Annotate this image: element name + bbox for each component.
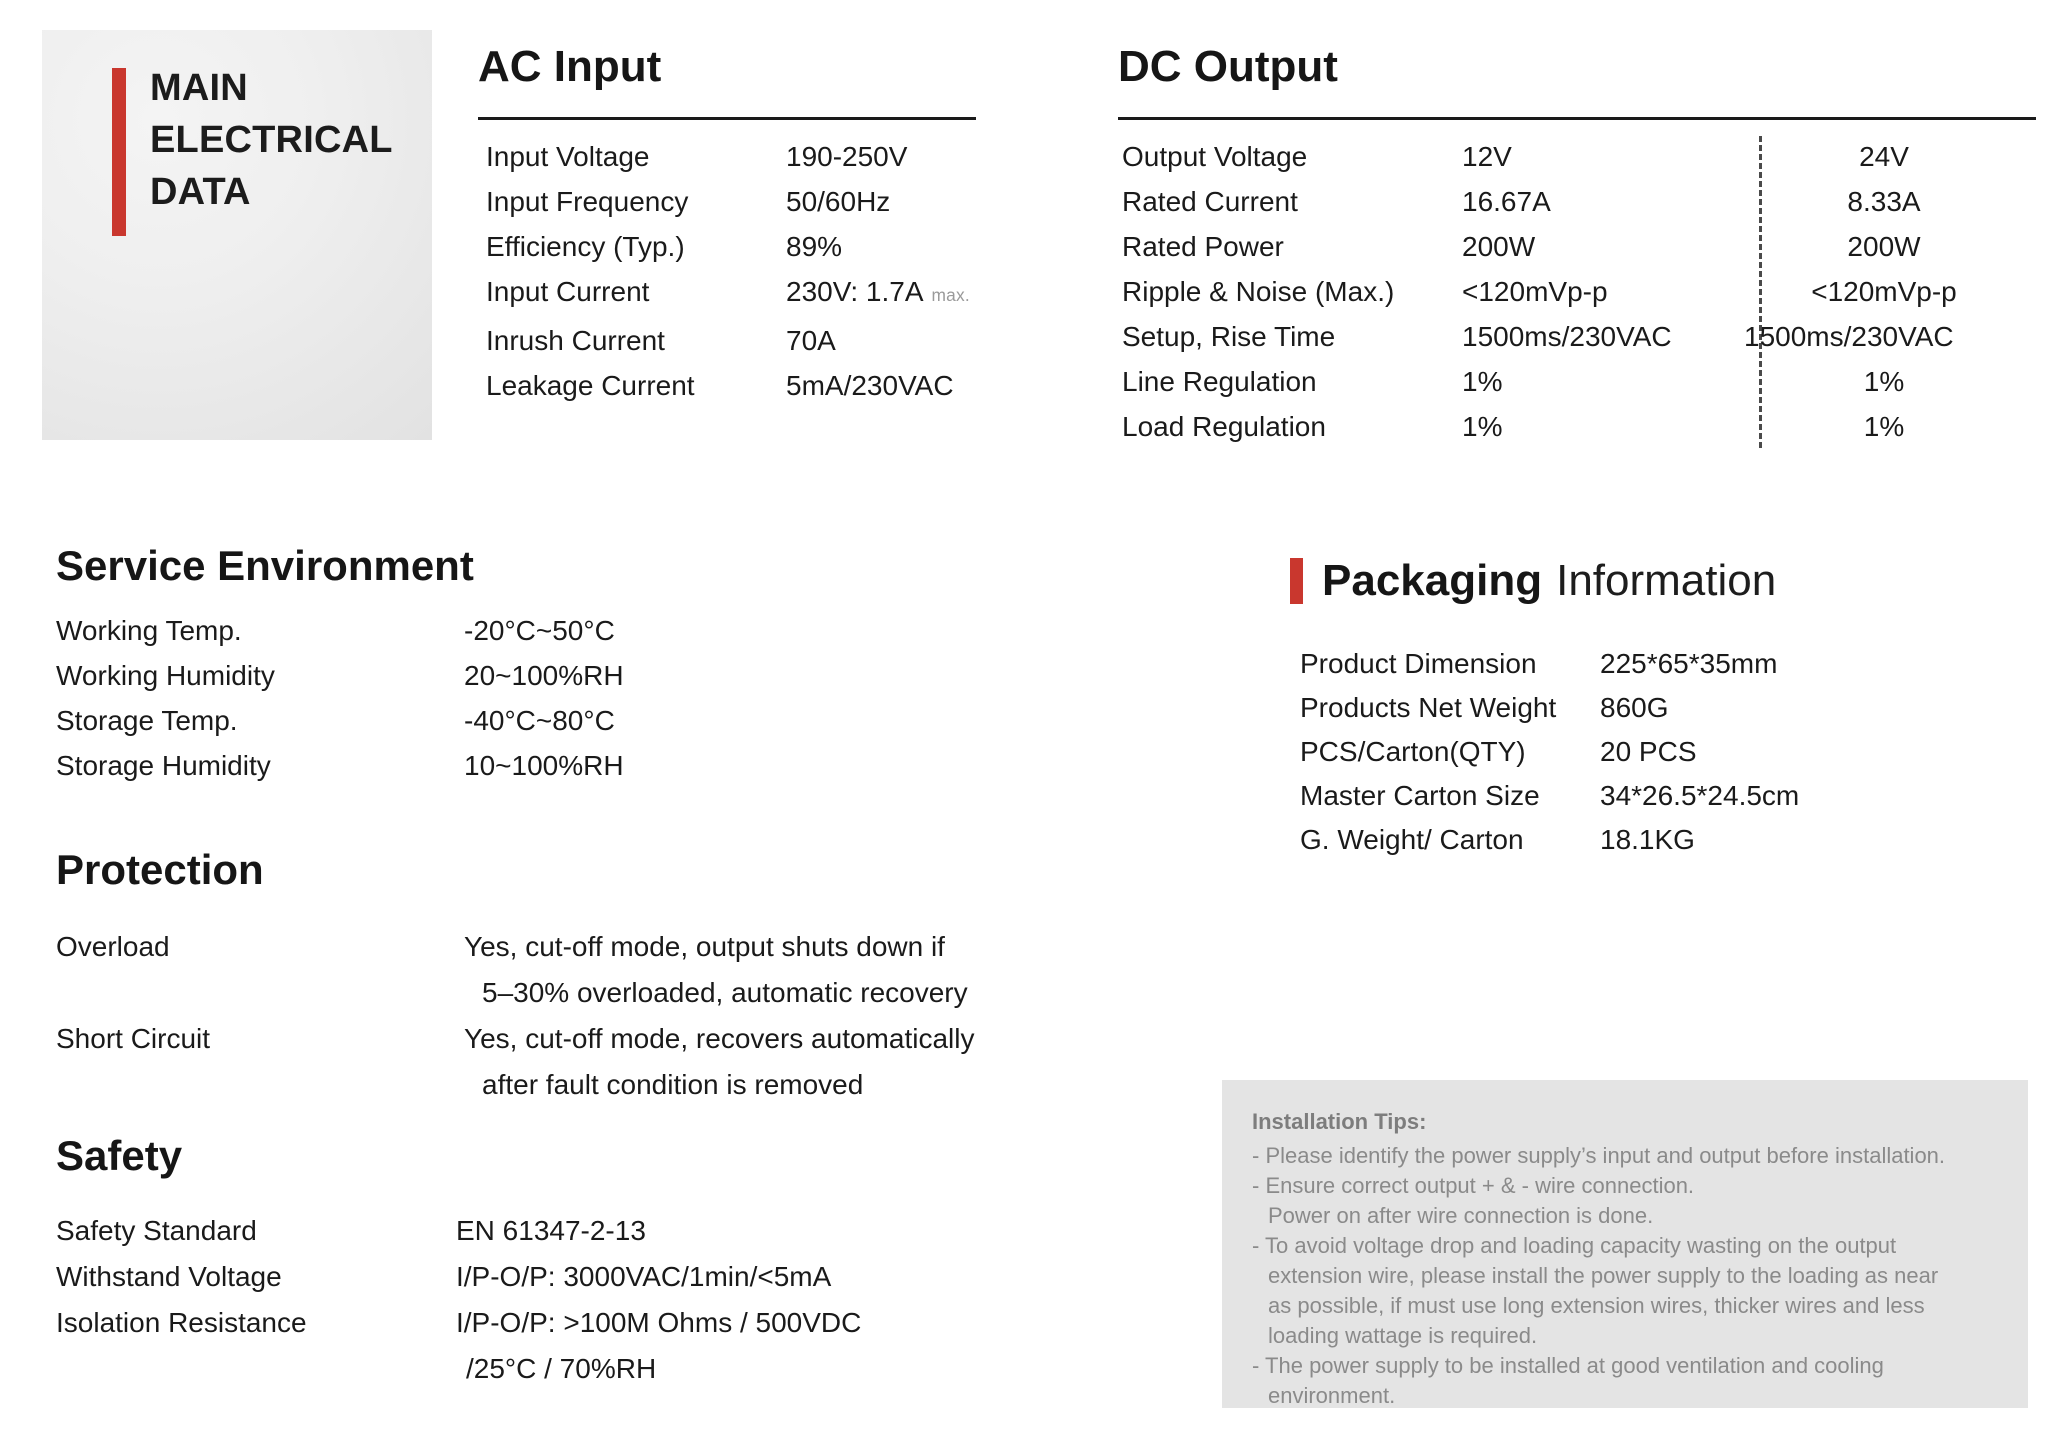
spec-value-12v: 16.67A [1462, 179, 1744, 224]
spec-value-24v: 1500ms/230VAC [1744, 314, 2024, 359]
dc-output-divider [1118, 117, 2036, 120]
spec-label: Working Humidity [56, 653, 464, 698]
main-electrical-data-panel: MAIN ELECTRICAL DATA [42, 30, 432, 440]
spec-row: Line Regulation 1% 1% [1122, 359, 2024, 404]
spec-value: I/P-O/P: 3000VAC/1min/<5mA [456, 1254, 831, 1300]
spec-label: Input Voltage [486, 134, 786, 179]
spec-value: 18.1KG [1600, 818, 1695, 862]
red-accent-bar [1290, 558, 1303, 604]
installation-tip-line: Power on after wire connection is done. [1252, 1201, 1998, 1231]
spec-value-line: EN 61347-2-13 [456, 1208, 646, 1254]
spec-value-12v: 1500ms/230VAC [1462, 314, 1744, 359]
spec-value-24v: 1% [1744, 404, 2024, 449]
installation-tip-line: - Ensure correct output + & - wire conne… [1252, 1171, 1998, 1201]
spec-label: Overload [56, 924, 464, 970]
spec-row: Input Current 230V: 1.7A max. [486, 269, 970, 318]
spec-row: Working Temp. -20°C~50°C [56, 608, 724, 653]
packaging-heading-strong: Packaging [1322, 556, 1542, 606]
spec-value-12v: 200W [1462, 224, 1744, 269]
spec-label: Withstand Voltage [56, 1254, 456, 1300]
spec-label: Master Carton Size [1300, 774, 1600, 818]
spec-label: Working Temp. [56, 608, 464, 653]
spec-value: Yes, cut-off mode, output shuts down if … [464, 924, 968, 1016]
spec-value: EN 61347-2-13 [456, 1208, 646, 1254]
spec-value-12v: 1% [1462, 404, 1744, 449]
installation-tip-line: - To avoid voltage drop and loading capa… [1252, 1231, 1998, 1261]
installation-tip-line: - The power supply to be installed at go… [1252, 1351, 1998, 1381]
installation-tip-line: as possible, if must use long extension … [1252, 1291, 1998, 1321]
spec-value-12v: <120mVp-p [1462, 269, 1744, 314]
ac-input-heading: AC Input [478, 42, 661, 92]
spec-value-line: /25°C / 70%RH [456, 1346, 861, 1392]
safety-heading: Safety [56, 1132, 182, 1180]
spec-label: Input Frequency [486, 179, 786, 224]
spec-value-12v: 12V [1462, 134, 1744, 179]
spec-label: Setup, Rise Time [1122, 314, 1462, 359]
spec-row: Product Dimension 225*65*35mm [1300, 642, 1799, 686]
spec-value: Yes, cut-off mode, recovers automaticall… [464, 1016, 974, 1108]
spec-value: 70A [786, 318, 836, 363]
ac-input-spec-list: Input Voltage 190-250V Input Frequency 5… [486, 134, 970, 408]
packaging-spec-list: Product Dimension 225*65*35mm Products N… [1300, 642, 1799, 862]
spec-value: 5mA/230VAC [786, 363, 954, 408]
spec-row: Rated Power 200W 200W [1122, 224, 2024, 269]
red-accent-bar [112, 68, 126, 236]
spec-label: Line Regulation [1122, 359, 1462, 404]
spec-row: Rated Current 16.67A 8.33A [1122, 179, 2024, 224]
spec-label: Rated Power [1122, 224, 1462, 269]
spec-value-note: max. [932, 273, 970, 318]
spec-value: -40°C~80°C [464, 698, 724, 743]
spec-row: Efficiency (Typ.) 89% [486, 224, 970, 269]
spec-value-24v: <120mVp-p [1744, 269, 2024, 314]
main-title-line-2: ELECTRICAL [150, 114, 420, 166]
spec-label: Input Current [486, 269, 786, 314]
spec-row: Input Frequency 50/60Hz [486, 179, 970, 224]
spec-value: 20~100%RH [464, 653, 724, 698]
main-title-line-3: DATA [150, 166, 420, 218]
spec-label: Inrush Current [486, 318, 786, 363]
installation-tip-line: - Please identify the power supply’s inp… [1252, 1141, 1998, 1171]
spec-label: Storage Humidity [56, 743, 464, 788]
spec-row: Working Humidity 20~100%RH [56, 653, 724, 698]
spec-label: Load Regulation [1122, 404, 1462, 449]
spec-row: Storage Humidity 10~100%RH [56, 743, 724, 788]
spec-label: Ripple & Noise (Max.) [1122, 269, 1462, 314]
spec-row: Output Voltage 12V 24V [1122, 134, 2024, 179]
spec-value-line: I/P-O/P: >100M Ohms / 500VDC [456, 1300, 861, 1346]
spec-row: Short Circuit Yes, cut-off mode, recover… [56, 1016, 974, 1108]
spec-value: 230V: 1.7A [786, 269, 924, 314]
spec-row: Input Voltage 190-250V [486, 134, 970, 179]
safety-spec-list: Safety Standard EN 61347-2-13 Withstand … [56, 1208, 861, 1392]
installation-tips-title: Installation Tips: [1252, 1107, 1998, 1137]
spec-value-24v: 24V [1744, 134, 2024, 179]
packaging-heading-light: Information [1556, 556, 1776, 606]
spec-value-line: 5–30% overloaded, automatic recovery [464, 970, 968, 1016]
protection-heading: Protection [56, 846, 264, 894]
spec-value: I/P-O/P: >100M Ohms / 500VDC /25°C / 70%… [456, 1300, 861, 1392]
installation-tip-line: loading wattage is required. [1252, 1321, 1998, 1351]
spec-value: -20°C~50°C [464, 608, 724, 653]
spec-value-24v: 8.33A [1744, 179, 2024, 224]
spec-row: PCS/Carton(QTY) 20 PCS [1300, 730, 1799, 774]
protection-spec-list: Overload Yes, cut-off mode, output shuts… [56, 924, 974, 1108]
spec-row: Master Carton Size 34*26.5*24.5cm [1300, 774, 1799, 818]
spec-label: Rated Current [1122, 179, 1462, 224]
service-environment-heading: Service Environment [56, 542, 474, 590]
spec-label: Product Dimension [1300, 642, 1600, 686]
spec-value: 225*65*35mm [1600, 642, 1777, 686]
spec-label: Products Net Weight [1300, 686, 1600, 730]
dc-output-spec-list: Output Voltage 12V 24V Rated Current 16.… [1122, 134, 2024, 449]
spec-value: 190-250V [786, 134, 907, 179]
spec-value-line: Yes, cut-off mode, output shuts down if [464, 924, 968, 970]
spec-value-line: Yes, cut-off mode, recovers automaticall… [464, 1016, 974, 1062]
spec-row: Ripple & Noise (Max.) <120mVp-p <120mVp-… [1122, 269, 2024, 314]
spec-value-24v: 200W [1744, 224, 2024, 269]
spec-value: 34*26.5*24.5cm [1600, 774, 1799, 818]
spec-value-line: I/P-O/P: 3000VAC/1min/<5mA [456, 1254, 831, 1300]
main-electrical-data-title: MAIN ELECTRICAL DATA [150, 62, 420, 218]
spec-row: Storage Temp. -40°C~80°C [56, 698, 724, 743]
spec-value: 50/60Hz [786, 179, 890, 224]
dc-output-heading: DC Output [1118, 42, 1338, 92]
spec-row: Withstand Voltage I/P-O/P: 3000VAC/1min/… [56, 1254, 861, 1300]
spec-value: 860G [1600, 686, 1669, 730]
spec-label: Short Circuit [56, 1016, 464, 1062]
spec-value: 10~100%RH [464, 743, 724, 788]
spec-label: Output Voltage [1122, 134, 1462, 179]
spec-value: 20 PCS [1600, 730, 1697, 774]
spec-row: Safety Standard EN 61347-2-13 [56, 1208, 861, 1254]
spec-label: Safety Standard [56, 1208, 456, 1254]
installation-tip-line: environment. [1252, 1381, 1998, 1411]
spec-row: Load Regulation 1% 1% [1122, 404, 2024, 449]
spec-label: Efficiency (Typ.) [486, 224, 786, 269]
spec-value-12v: 1% [1462, 359, 1744, 404]
spec-row: Inrush Current 70A [486, 318, 970, 363]
main-title-line-1: MAIN [150, 62, 420, 114]
spec-row: Overload Yes, cut-off mode, output shuts… [56, 924, 974, 1016]
spec-row: G. Weight/ Carton 18.1KG [1300, 818, 1799, 862]
spec-value: 89% [786, 224, 842, 269]
spec-label: Isolation Resistance [56, 1300, 456, 1346]
spec-row: Products Net Weight 860G [1300, 686, 1799, 730]
ac-input-divider [478, 117, 976, 120]
spec-label: Storage Temp. [56, 698, 464, 743]
spec-label: PCS/Carton(QTY) [1300, 730, 1600, 774]
packaging-information-heading: Packaging Information [1290, 556, 1776, 606]
service-environment-spec-list: Working Temp. -20°C~50°C Working Humidit… [56, 608, 724, 788]
spec-row: Setup, Rise Time 1500ms/230VAC 1500ms/23… [1122, 314, 2024, 359]
spec-value-24v: 1% [1744, 359, 2024, 404]
spec-label: G. Weight/ Carton [1300, 818, 1600, 862]
installation-tips-box: Installation Tips: - Please identify the… [1222, 1080, 2028, 1408]
spec-value-line: after fault condition is removed [464, 1062, 974, 1108]
spec-row: Isolation Resistance I/P-O/P: >100M Ohms… [56, 1300, 861, 1392]
spec-label: Leakage Current [486, 363, 786, 408]
spec-row: Leakage Current 5mA/230VAC [486, 363, 970, 408]
installation-tip-line: extension wire, please install the power… [1252, 1261, 1998, 1291]
